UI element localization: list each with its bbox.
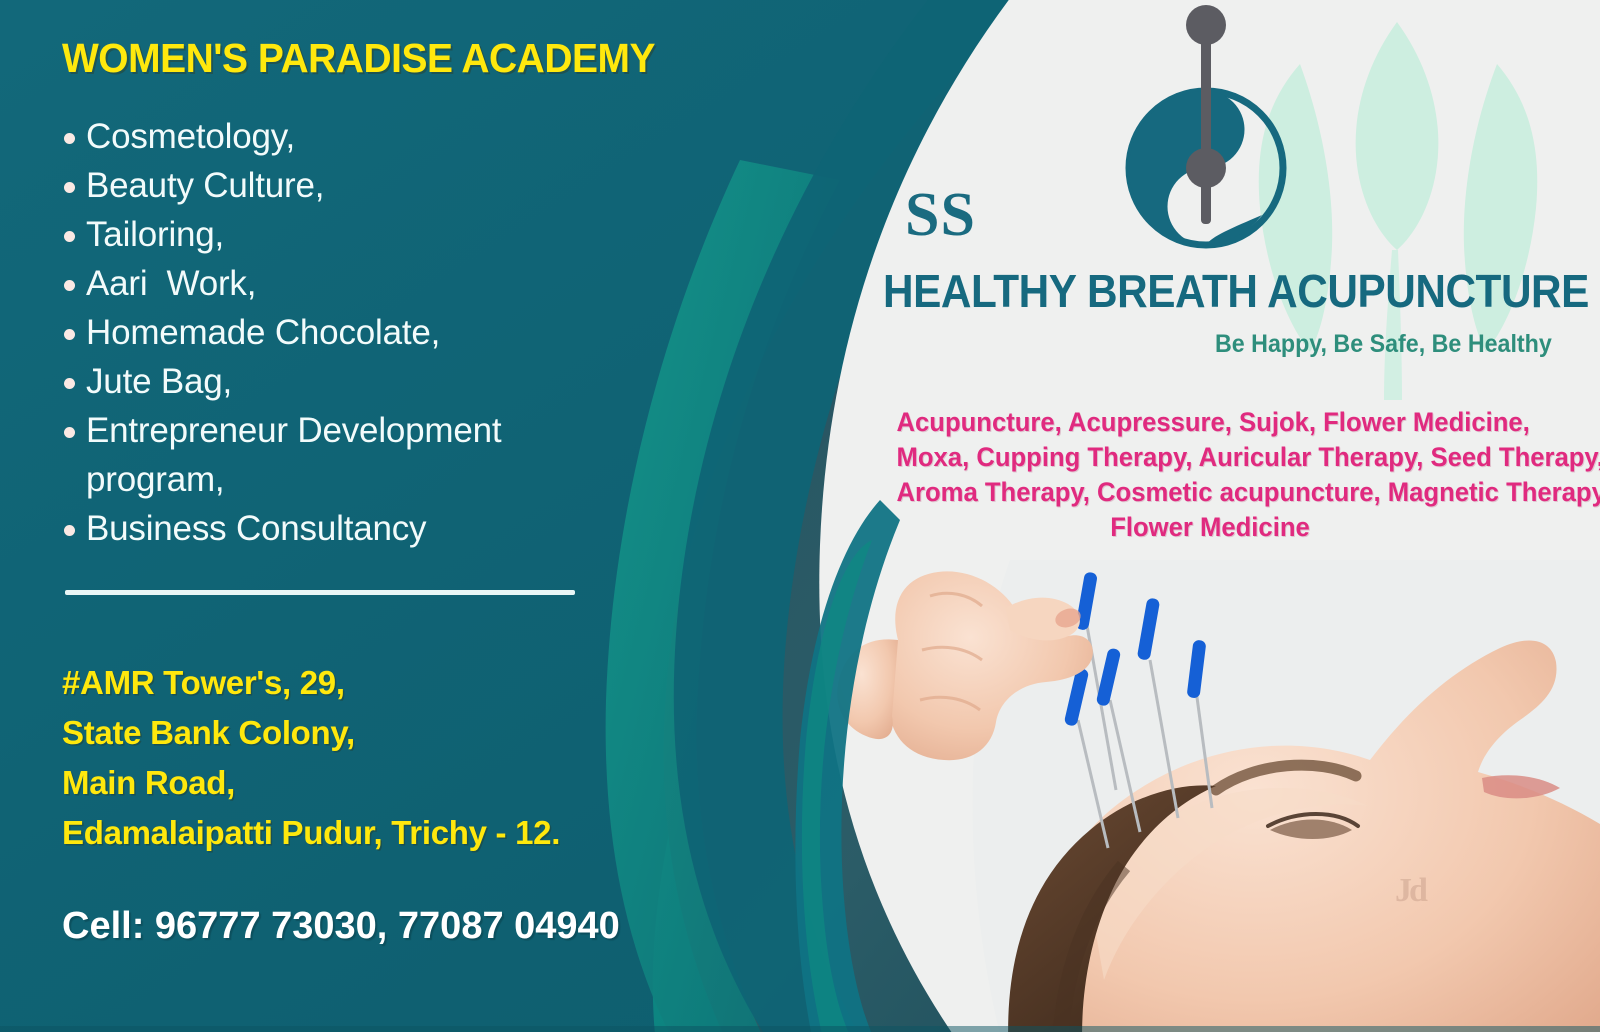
bullet-icon — [64, 427, 75, 438]
list-item: Aari Work, — [62, 259, 662, 308]
bullet-icon — [64, 280, 75, 291]
list-item-label: Tailoring, — [86, 215, 224, 254]
therapy-line: Acupuncture, Acupressure, Sujok, Flower … — [897, 405, 1524, 440]
list-item-continuation: program, — [62, 455, 662, 504]
business-card-advertisement: WOMEN'S PARADISE ACADEMY Cosmetology, Be… — [0, 0, 1600, 1032]
justdial-watermark: Jd — [1395, 872, 1425, 910]
address-block: #AMR Tower's, 29, State Bank Colony, Mai… — [62, 658, 560, 858]
therapy-services-list: Acupuncture, Acupressure, Sujok, Flower … — [897, 405, 1524, 545]
bullet-icon — [64, 378, 75, 389]
right-brand-panel: SS HEALTHY BREATH ACUPUNCTURE Be Happy, … — [820, 0, 1600, 1032]
left-info-panel: WOMEN'S PARADISE ACADEMY Cosmetology, Be… — [0, 0, 700, 1032]
brand-initials: SS — [905, 180, 976, 251]
therapy-line: Aroma Therapy, Cosmetic acupuncture, Mag… — [897, 475, 1524, 510]
brand-name: HEALTHY BREATH ACUPUNCTURE — [883, 264, 1589, 318]
academy-course-list: Cosmetology, Beauty Culture, Tailoring, … — [62, 112, 662, 553]
list-item: Beauty Culture, — [62, 161, 662, 210]
list-item-label: program, — [86, 460, 224, 499]
list-item-label: Entrepreneur Development — [86, 411, 501, 450]
bullet-icon — [64, 182, 75, 193]
list-item-label: Homemade Chocolate, — [86, 313, 440, 352]
horizontal-divider — [65, 590, 575, 595]
list-item-label: Aari Work, — [86, 264, 256, 303]
list-item: Jute Bag, — [62, 357, 662, 406]
list-item: Homemade Chocolate, — [62, 308, 662, 357]
therapy-line: Moxa, Cupping Therapy, Auricular Therapy… — [897, 440, 1524, 475]
phone-number[interactable]: Cell: 96777 73030, 77087 04940 — [62, 905, 620, 948]
bullet-icon — [64, 525, 75, 536]
page-title: WOMEN'S PARADISE ACADEMY — [62, 35, 655, 82]
list-item: Tailoring, — [62, 210, 662, 259]
list-item-label: Beauty Culture, — [86, 166, 324, 205]
list-item: Business Consultancy — [62, 504, 662, 553]
bullet-icon — [64, 231, 75, 242]
list-item-label: Cosmetology, — [86, 117, 295, 156]
list-item: Entrepreneur Development — [62, 406, 662, 455]
list-item: Cosmetology, — [62, 112, 662, 161]
bullet-icon — [64, 133, 75, 144]
brand-tagline: Be Happy, Be Safe, Be Healthy — [1215, 330, 1552, 359]
list-item-label: Jute Bag, — [86, 362, 232, 401]
list-item-label: Business Consultancy — [86, 509, 426, 548]
therapy-line: Flower Medicine — [897, 510, 1524, 545]
bullet-icon — [64, 329, 75, 340]
